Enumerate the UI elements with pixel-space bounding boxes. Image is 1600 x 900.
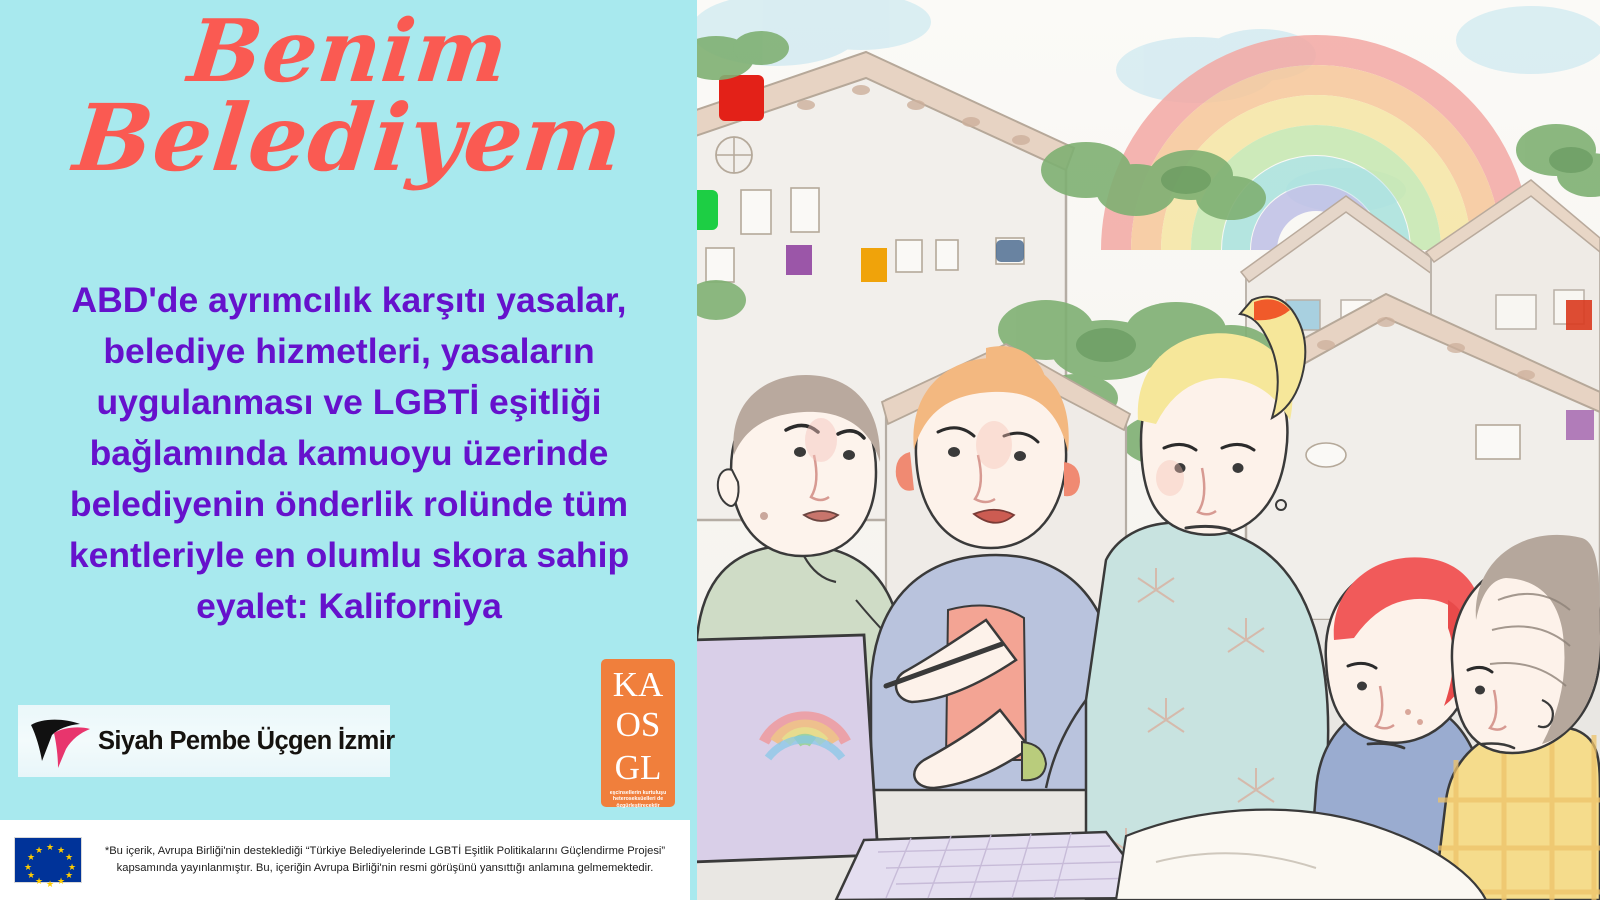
kaosgl-logo: KA OS GL eşcinsellerin kurtuluşu heteros… xyxy=(601,659,675,807)
eu-star: ★ xyxy=(46,843,54,852)
left-text-panel: Benim Belediyem ABD'de ayrımcılık karşıt… xyxy=(0,0,697,900)
eu-disclaimer-text: *Bu içerik, Avrupa Birliği'nin destekled… xyxy=(82,843,690,877)
eu-star: ★ xyxy=(35,877,43,886)
poster-body-text: ABD'de ayrımcılık karşıtı yasalar, beled… xyxy=(24,275,674,632)
kaosgl-line-2: OS xyxy=(616,705,661,745)
siyah-pembe-ucgen-izmir-logo: Siyah Pembe Üçgen İzmir xyxy=(18,705,390,777)
european-union-flag-icon: ★ ★ ★ ★ ★ ★ ★ ★ ★ ★ ★ ★ xyxy=(14,837,82,883)
illustration-scene xyxy=(686,0,1600,900)
poster-title: Benim Belediyem xyxy=(0,8,697,186)
siyah-pembe-mark-svg xyxy=(28,713,96,769)
eu-star: ★ xyxy=(57,877,65,886)
window-purple xyxy=(786,245,812,275)
illustration-svg xyxy=(686,0,1600,900)
window-red xyxy=(719,75,764,121)
kaosgl-line-1: KA xyxy=(613,665,664,705)
title-line-2: Belediyem xyxy=(0,92,702,186)
window-orange xyxy=(861,248,887,282)
eu-star: ★ xyxy=(46,880,54,889)
siyah-pembe-triangle-icon xyxy=(28,713,96,769)
eu-star: ★ xyxy=(24,863,32,872)
poster-root: Benim Belediyem ABD'de ayrımcılık karşıt… xyxy=(0,0,1600,900)
illustration-artwork xyxy=(686,0,1600,900)
eu-star: ★ xyxy=(27,871,35,880)
kaosgl-line-3: GL xyxy=(615,748,662,788)
eu-star: ★ xyxy=(35,846,43,855)
siyah-pembe-logo-label: Siyah Pembe Üçgen İzmir xyxy=(98,727,395,756)
eu-star: ★ xyxy=(57,846,65,855)
eu-star: ★ xyxy=(65,853,73,862)
laptop-keyboard xyxy=(836,832,1156,900)
eu-disclaimer-bar: ★ ★ ★ ★ ★ ★ ★ ★ ★ ★ ★ ★ *Bu içerik, Avru… xyxy=(0,820,690,900)
kaosgl-tagline: eşcinsellerin kurtuluşu heteroseksüeller… xyxy=(605,790,671,809)
title-line-1: Benim xyxy=(0,8,702,96)
eu-star: ★ xyxy=(65,871,73,880)
eu-star: ★ xyxy=(27,853,35,862)
